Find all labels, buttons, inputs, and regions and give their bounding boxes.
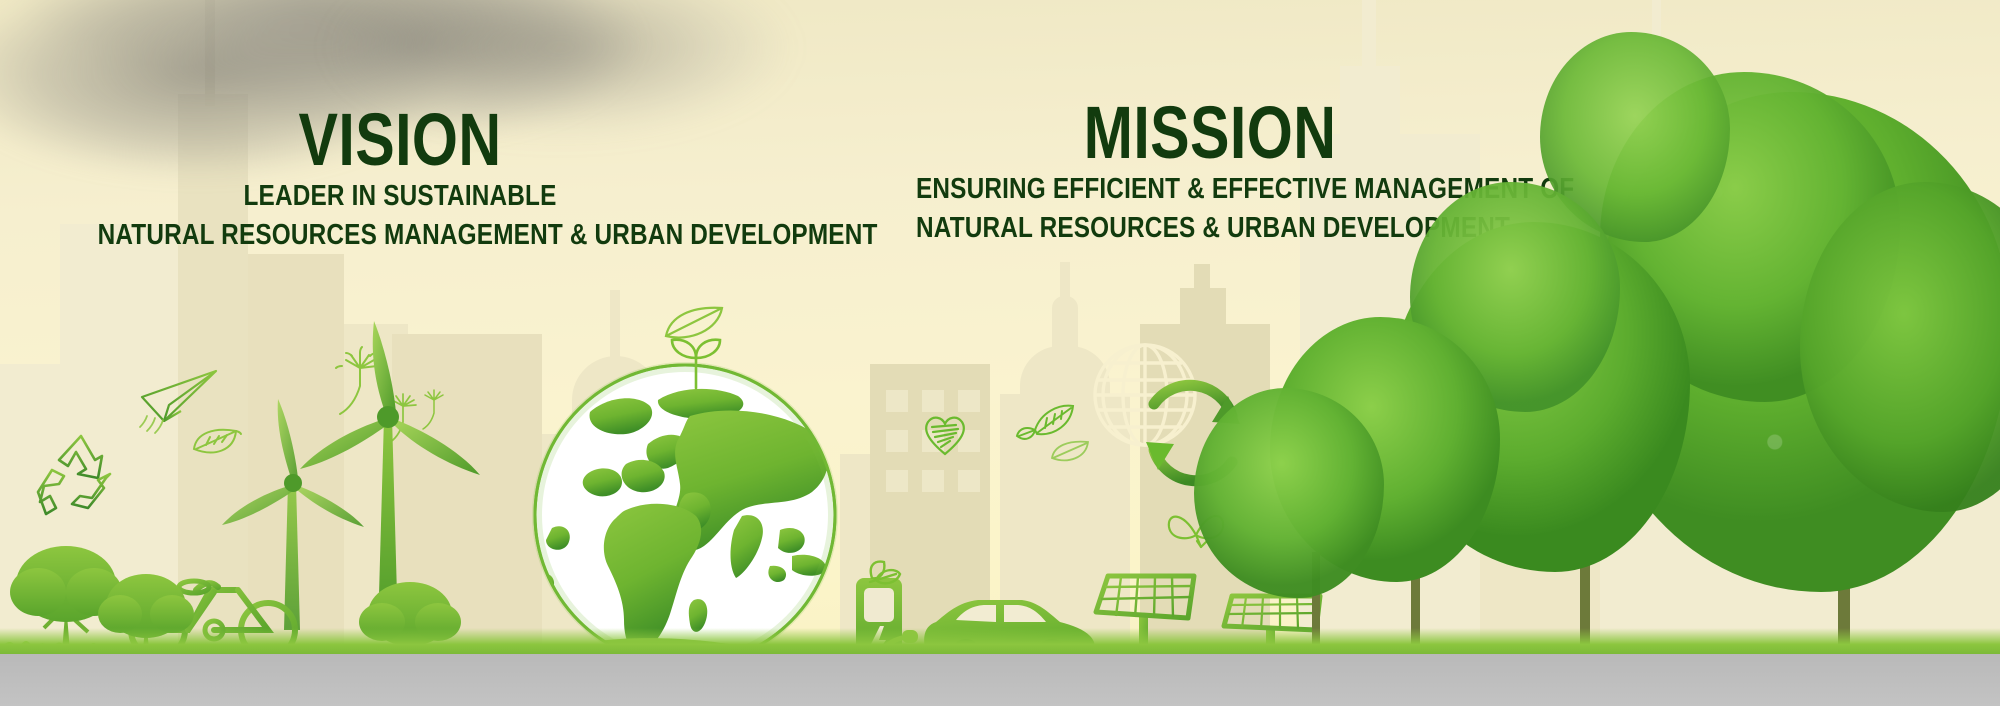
vision-subtitle-line1: LEADER IN SUSTAINABLE [98, 179, 703, 213]
mission-title: MISSION [930, 98, 1490, 168]
recycle-arrows-icon [1132, 372, 1254, 494]
vision-block: VISION LEADER IN SUSTAINABLE NATURAL RES… [40, 105, 760, 252]
recycle-triangle-icon [36, 430, 126, 522]
earth-globe-icon [530, 360, 840, 670]
heart-scribble-icon [920, 410, 970, 460]
mission-subtitle-line2: NATURAL RESOURCES & URBAN DEVELOPMENT [916, 211, 1504, 245]
mission-subtitle-line1: ENSURING EFFICIENT & EFFECTIVE MANAGEMEN… [916, 172, 1504, 206]
vision-subtitle-line2: NATURAL RESOURCES MANAGEMENT & URBAN DEV… [98, 218, 703, 252]
mission-block: MISSION ENSURING EFFICIENT & EFFECTIVE M… [860, 98, 1560, 245]
leaf-outline-icon [660, 300, 730, 344]
leaf-outline-icon [1048, 438, 1092, 466]
eco-vision-mission-banner: VISION LEADER IN SUSTAINABLE NATURAL RES… [0, 0, 2000, 706]
road-strip [0, 654, 2000, 706]
vision-title: VISION [112, 105, 688, 175]
butterfly-icon [1165, 505, 1227, 553]
